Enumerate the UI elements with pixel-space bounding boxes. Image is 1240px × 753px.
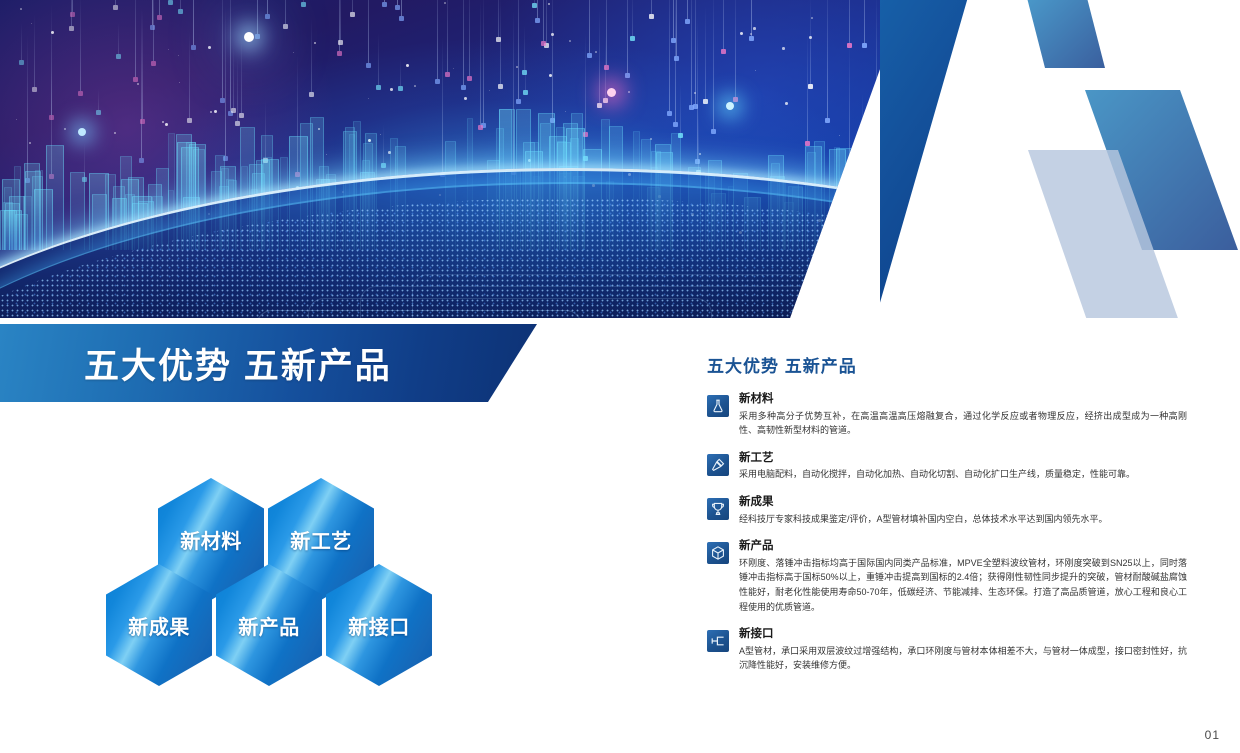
hex-label: 新工艺 [290, 525, 352, 554]
hammer-icon [707, 454, 729, 476]
flask-icon [707, 395, 729, 417]
panel-title: 五大优势 五新产品 [707, 352, 1187, 377]
hexagon-cluster: 新材料 新工艺 新成果 新产品 新接口 [106, 478, 416, 686]
decorative-parallelograms [880, 0, 1240, 318]
feature-description: 采用多种高分子优势互补，在高温高温高压熔融复合，通过化学反应或者物理反应，经挤出… [739, 409, 1187, 438]
feature-title: 新产品 [739, 540, 1187, 553]
feature-description: 经科技厅专家科技成果鉴定/评价，A型管材填补国内空白，总体技术水平达到国内领先水… [739, 512, 1187, 527]
feature-item-new-product: 新产品 环刚度、落锤冲击指标均高于国际国内同类产品标准，MPVE全塑料波纹管材，… [707, 540, 1187, 614]
pipe-connector-icon [707, 630, 729, 652]
feature-item-new-achievement: 新成果 经科技厅专家科技成果鉴定/评价，A型管材填补国内空白，总体技术水平达到国… [707, 496, 1187, 526]
hex-label: 新接口 [348, 611, 410, 640]
cube-icon [707, 542, 729, 564]
poster-page: 五大优势 五新产品 新材料 新工艺 新成果 新产品 新接口 五大优势 五新产品 [0, 0, 1240, 753]
hex-label: 新成果 [128, 611, 190, 640]
banner-title: 五大优势 五新产品 [84, 338, 392, 389]
feature-item-new-material: 新材料 采用多种高分子优势互补，在高温高温高压熔融复合，通过化学反应或者物理反应… [707, 393, 1187, 438]
feature-item-new-interface: 新接口 A型管材，承口采用双层波纹过增强结构，承口环刚度与管材本体相差不大，与管… [707, 628, 1187, 673]
feature-title: 新材料 [739, 393, 1187, 406]
feature-title: 新工艺 [739, 452, 1187, 465]
feature-item-new-process: 新工艺 采用电脑配料，自动化搅拌，自动化加热、自动化切割、自动化扩口生产线，质量… [707, 452, 1187, 482]
tech-city-illustration [0, 0, 905, 318]
section-title-banner: 五大优势 五新产品 [0, 324, 537, 402]
feature-title: 新成果 [739, 496, 1187, 509]
hex-label: 新材料 [180, 525, 242, 554]
circuit-traces [60, 250, 905, 318]
feature-list-panel: 五大优势 五新产品 新材料 采用多种高分子优势互补，在高温高温高压熔融复合，通过… [707, 352, 1187, 687]
feature-description: 环刚度、落锤冲击指标均高于国际国内同类产品标准，MPVE全塑料波纹管材，环刚度突… [739, 556, 1187, 614]
page-number: 01 [1205, 728, 1220, 742]
trophy-icon [707, 498, 729, 520]
feature-title: 新接口 [739, 628, 1187, 641]
hero-banner-image [0, 0, 1240, 318]
hex-label: 新产品 [238, 611, 300, 640]
feature-description: 采用电脑配料，自动化搅拌，自动化加热、自动化切割、自动化扩口生产线，质量稳定，性… [739, 467, 1187, 482]
feature-description: A型管材，承口采用双层波纹过增强结构，承口环刚度与管材本体相差不大，与管材一体成… [739, 644, 1187, 673]
